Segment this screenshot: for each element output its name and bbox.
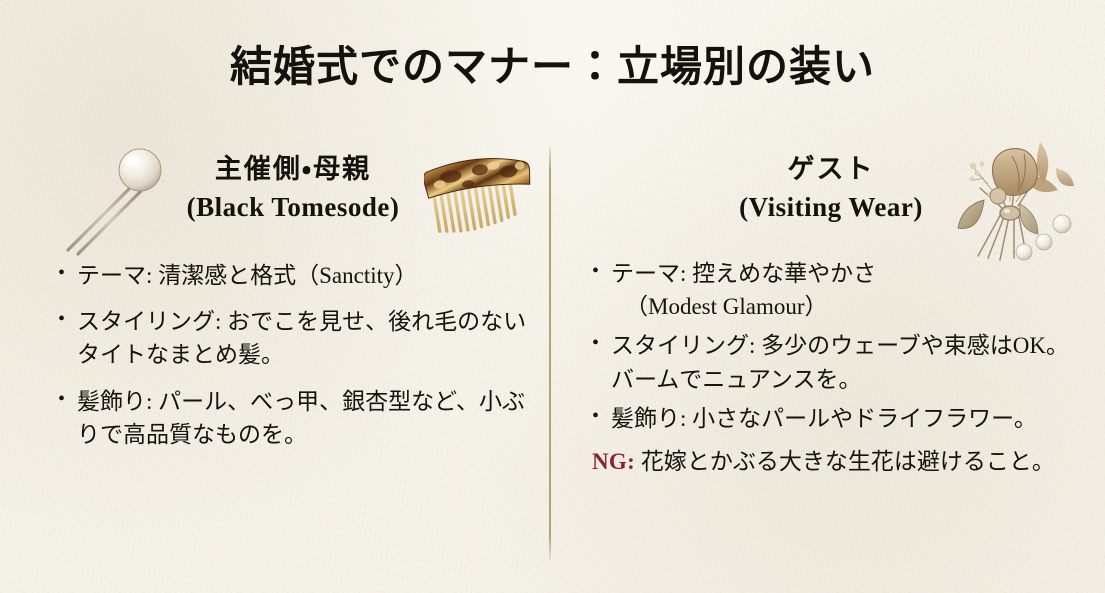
column-guest: ゲスト (Visiting Wear) テーマ: 控えめな華やかさ （Modes…	[592, 150, 1070, 479]
list-item: スタイリング: 多少のウェーブや束感はOK。バームでニュアンスを。	[592, 329, 1070, 396]
column-heading-guest: ゲスト (Visiting Wear)	[592, 150, 1070, 227]
list-item: テーマ: 控えめな華やかさ （Modest Glamour）	[592, 257, 1070, 324]
column-heading-host-mother: 主催側・母親 (Black Tomesode)	[58, 150, 528, 227]
column-heading-en: (Black Tomesode)	[58, 188, 528, 226]
list-item-text: テーマ: 控えめな華やかさ	[611, 261, 876, 286]
bullet-list-host-mother: テーマ: 清潔感と格式（Sanctity） スタイリング: おでこを見せ、後れ毛…	[58, 259, 528, 452]
list-item: 髪飾り: パール、べっ甲、銀杏型など、小ぶりで高品質なものを。	[58, 385, 528, 452]
list-item: 髪飾り: 小さなパールやドライフラワー。	[592, 402, 1070, 435]
list-item-subtext: （Modest Glamour）	[611, 290, 1070, 323]
list-item: スタイリング: おでこを見せ、後れ毛のないタイトなまとめ髪。	[58, 305, 528, 372]
page-title: 結婚式でのマナー：立場別の装い	[0, 44, 1105, 92]
column-heading-en: (Visiting Wear)	[592, 188, 1070, 226]
ng-text: 花嫁とかぶる大きな生花は避けること。	[635, 449, 1055, 474]
column-divider	[549, 146, 551, 560]
column-host-mother: 主催側・母親 (Black Tomesode) テーマ: 清潔感と格式（Sanc…	[58, 150, 528, 464]
slide-canvas: 結婚式でのマナー：立場別の装い	[0, 0, 1105, 593]
ng-note: NG: 花嫁とかぶる大きな生花は避けること。	[592, 445, 1070, 478]
column-heading-ja: ゲスト	[592, 150, 1070, 188]
column-heading-ja: 主催側・母親	[58, 150, 528, 188]
bullet-list-guest: テーマ: 控えめな華やかさ （Modest Glamour） スタイリング: 多…	[592, 257, 1070, 436]
ng-label: NG:	[592, 449, 635, 474]
list-item: テーマ: 清潔感と格式（Sanctity）	[58, 259, 528, 292]
